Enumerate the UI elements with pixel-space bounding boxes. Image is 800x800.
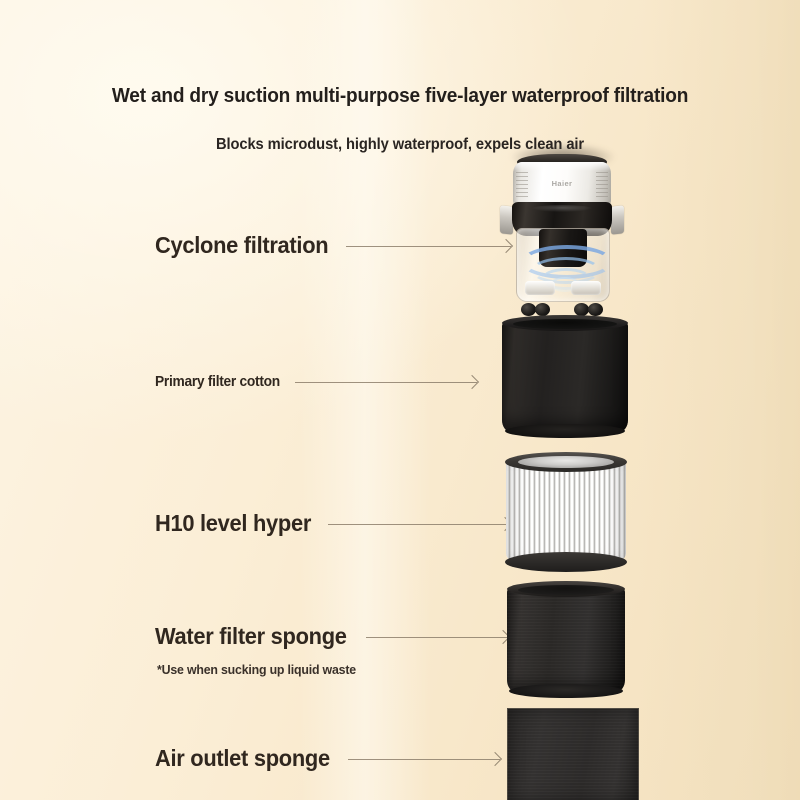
caster-wheel: [588, 303, 603, 316]
callout-h10-level-hyper: H10 level hyper: [155, 510, 510, 537]
arrow-head-icon: [488, 751, 502, 765]
filter-center-hole: [518, 456, 613, 468]
leader-line: [346, 246, 511, 247]
leader-arrow: [295, 377, 477, 387]
filter-end-cap-top: [505, 452, 627, 472]
leader-line: [295, 382, 477, 383]
caster-mount: [571, 281, 601, 295]
caster-wheel: [521, 303, 536, 316]
caster-mount: [525, 281, 555, 295]
callout-cyclone-filtration: Cyclone filtration: [155, 232, 511, 259]
callout-primary-filter-cotton: Primary filter cotton: [155, 374, 477, 390]
arrow-head-icon: [465, 375, 479, 389]
product-layer-air-outlet-sponge: [507, 708, 639, 800]
tank-latch: [611, 205, 624, 234]
leader-arrow: [346, 241, 511, 251]
background-band: [640, 0, 800, 800]
callout-label: Air outlet sponge: [155, 745, 330, 772]
page-subtitle: Blocks microdust, highly waterproof, exp…: [20, 136, 780, 154]
product-layer-hepa-h10-filter: [506, 452, 626, 570]
callout-label: Cyclone filtration: [155, 232, 328, 259]
filter-body: [507, 588, 625, 692]
callout-water-filter-sponge: Water filter sponge: [155, 623, 508, 650]
vacuum-transparent-tank: [516, 228, 610, 302]
product-layer-vacuum-cyclone-unit: Haier: [499, 150, 625, 310]
leader-arrow: [328, 519, 510, 529]
leader-line: [366, 637, 508, 638]
product-layer-water-filter-sponge: [507, 588, 625, 692]
filter-opening: [518, 585, 615, 595]
leader-arrow: [348, 754, 500, 764]
background-band: [300, 0, 430, 800]
callout-note-water-filter-sponge: *Use when sucking up liquid waste: [157, 662, 356, 677]
callout-label: H10 level hyper: [155, 510, 311, 537]
product-layer-primary-filter-cotton: [502, 322, 628, 432]
filter-body: [502, 322, 628, 432]
caster-wheel: [574, 303, 589, 316]
filter-end-cap-bottom: [505, 552, 627, 572]
leader-line: [348, 759, 500, 760]
leader-line: [328, 524, 510, 525]
filter-base: [509, 684, 622, 698]
callout-air-outlet-sponge: Air outlet sponge: [155, 745, 500, 772]
product-infographic: Wet and dry suction multi-purpose five-l…: [0, 0, 800, 800]
page-title: Wet and dry suction multi-purpose five-l…: [28, 84, 772, 108]
filter-base: [505, 424, 626, 438]
callout-label: Primary filter cotton: [155, 374, 280, 390]
pleated-media: [506, 461, 626, 561]
filter-opening: [513, 319, 616, 329]
leader-arrow: [366, 632, 508, 642]
callout-label: Water filter sponge: [155, 623, 347, 650]
brand-logo: Haier: [513, 179, 611, 188]
caster-wheel: [535, 303, 550, 316]
